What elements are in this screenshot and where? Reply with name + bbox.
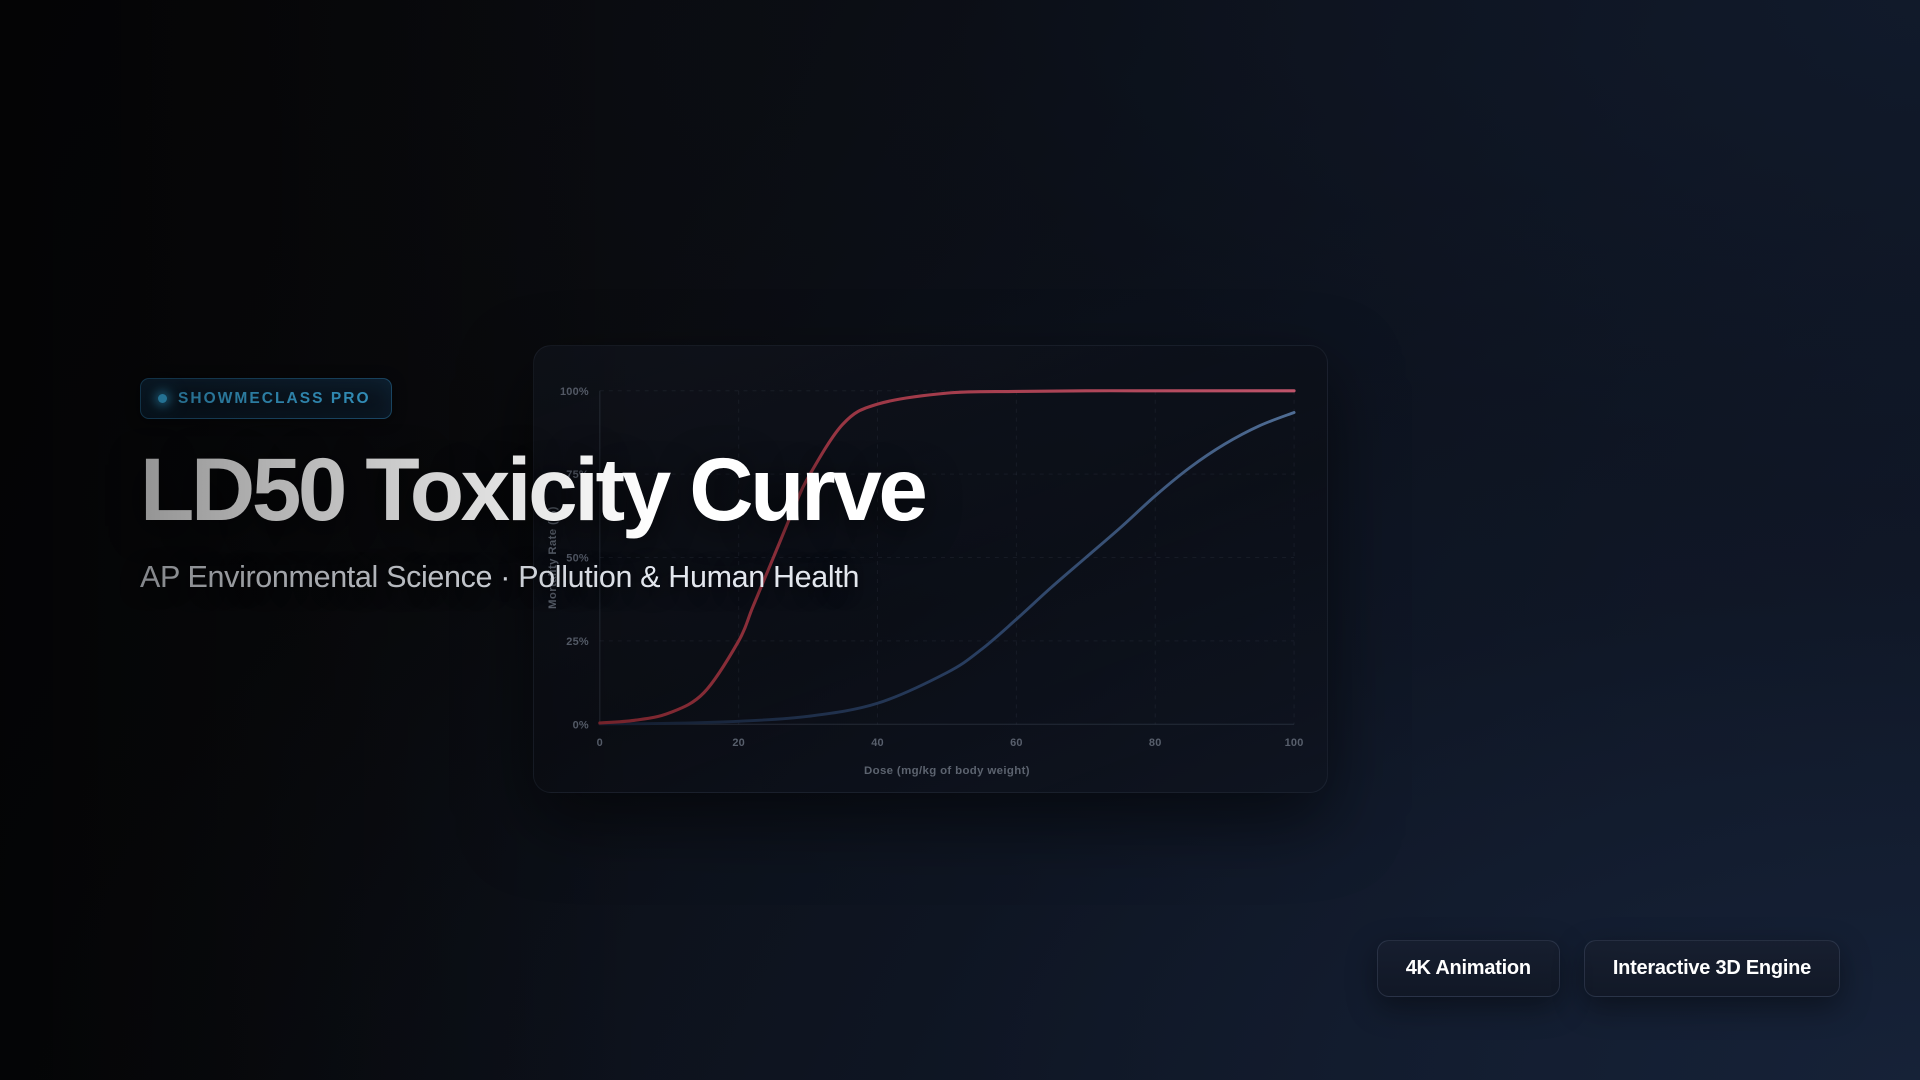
pro-badge-label: SHOWMECLASS PRO xyxy=(178,390,371,408)
svg-text:25%: 25% xyxy=(566,636,589,648)
svg-text:40: 40 xyxy=(871,737,884,749)
svg-text:0: 0 xyxy=(597,737,603,749)
status-dot-icon xyxy=(158,394,167,403)
svg-text:60: 60 xyxy=(1010,737,1023,749)
hero-block: SHOWMECLASS PRO LD50 Toxicity Curve AP E… xyxy=(140,378,980,601)
feature-pill-group: 4K Animation Interactive 3D Engine xyxy=(1377,940,1840,997)
svg-text:0%: 0% xyxy=(573,719,589,731)
pro-badge[interactable]: SHOWMECLASS PRO xyxy=(140,378,392,419)
svg-text:80: 80 xyxy=(1149,737,1162,749)
page-title: LD50 Toxicity Curve xyxy=(140,445,980,533)
svg-text:20: 20 xyxy=(732,737,745,749)
svg-text:Dose (mg/kg of body weight): Dose (mg/kg of body weight) xyxy=(864,765,1030,777)
pill-4k-animation[interactable]: 4K Animation xyxy=(1377,940,1560,997)
pill-interactive-3d-engine[interactable]: Interactive 3D Engine xyxy=(1584,940,1840,997)
svg-text:100: 100 xyxy=(1285,737,1304,749)
slide-canvas: 0%25%50%75%100%020406080100Dose (mg/kg o… xyxy=(0,0,1920,1080)
page-subtitle: AP Environmental Science · Pollution & H… xyxy=(140,555,940,601)
